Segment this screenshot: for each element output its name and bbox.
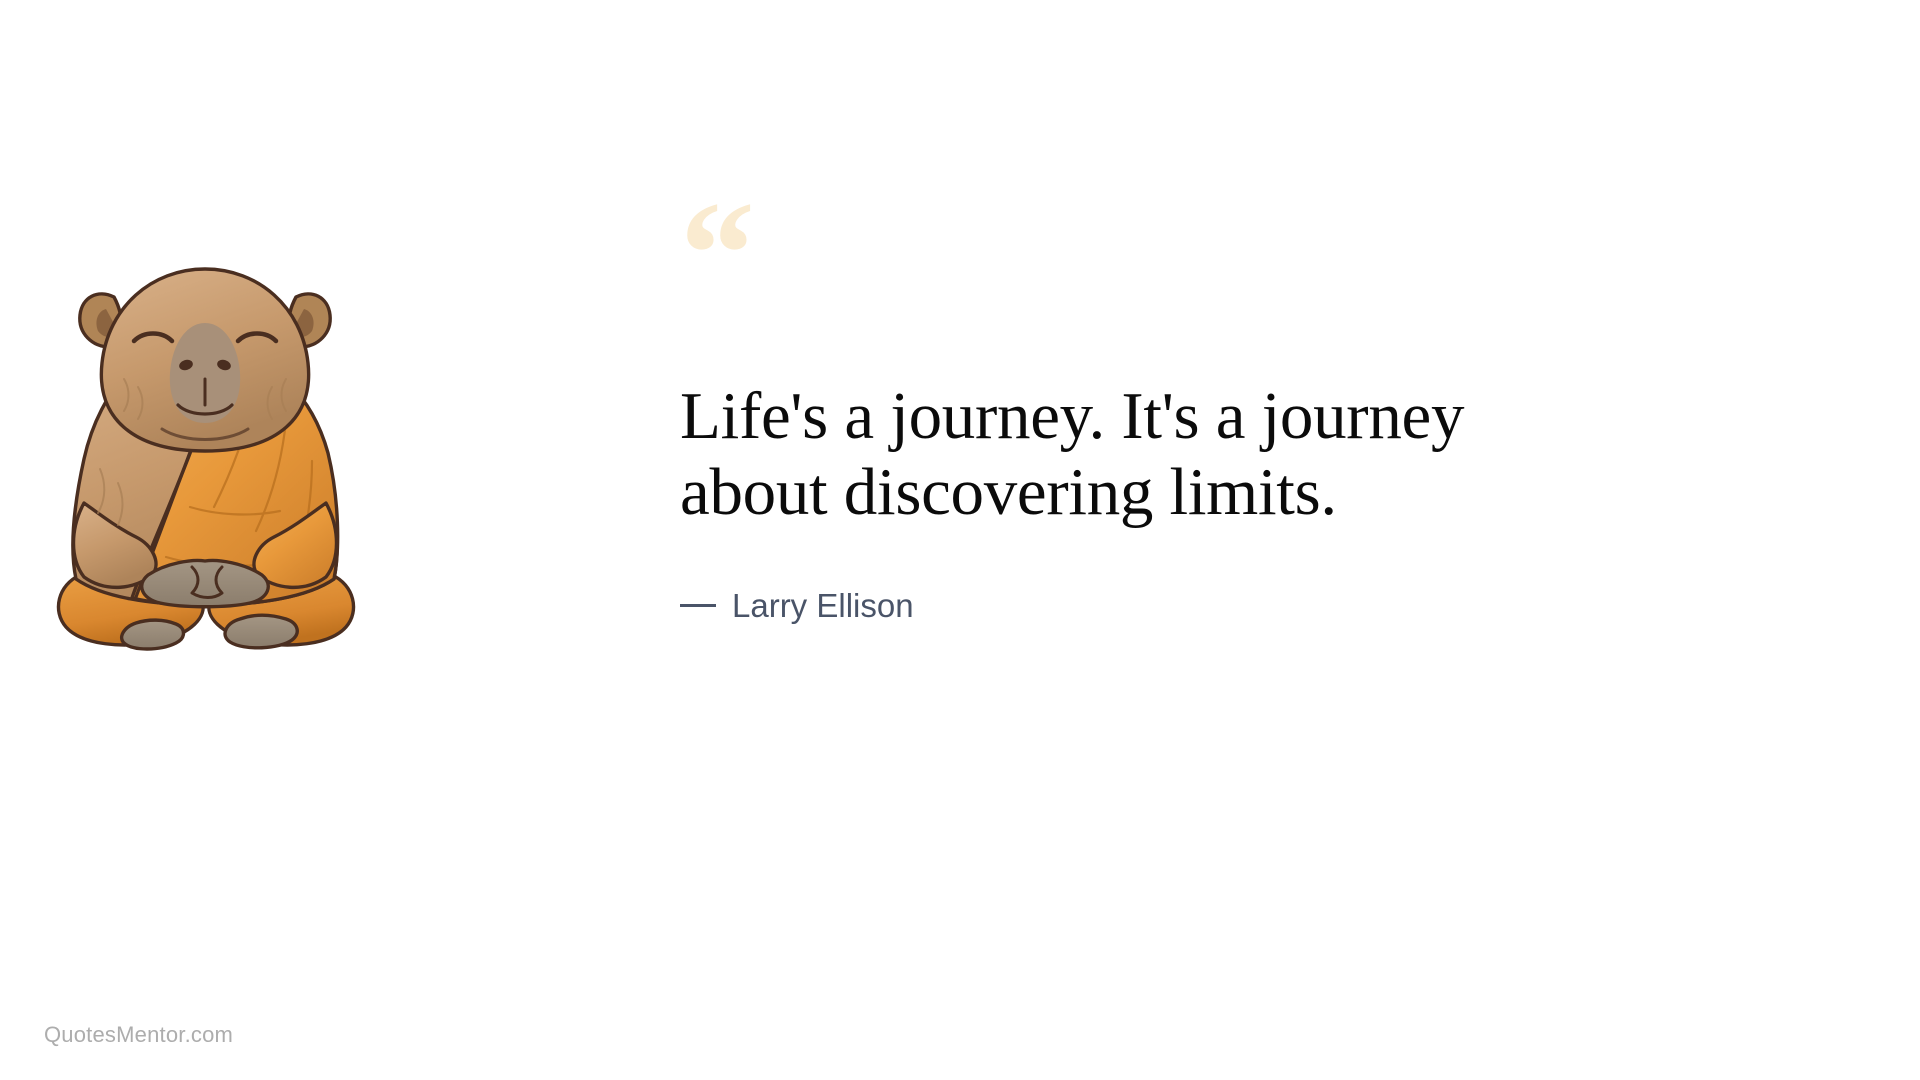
capybara-monk-svg: [40, 245, 370, 655]
right-foot: [225, 615, 297, 648]
attribution-dash-icon: [680, 604, 716, 607]
left-foot: [122, 620, 184, 649]
quote-text: Life's a journey. It's a journey about d…: [680, 378, 1490, 531]
decorative-quote-icon: “: [680, 200, 1830, 286]
folded-hands: [142, 561, 268, 607]
quote-attribution: Larry Ellison: [680, 587, 1830, 625]
quote-block: “ Life's a journey. It's a journey about…: [680, 200, 1830, 625]
attribution-author: Larry Ellison: [732, 587, 914, 625]
capybara-monk-illustration: [40, 245, 370, 655]
quote-card-canvas: “ Life's a journey. It's a journey about…: [0, 0, 1920, 1080]
site-watermark: QuotesMentor.com: [44, 1022, 233, 1048]
